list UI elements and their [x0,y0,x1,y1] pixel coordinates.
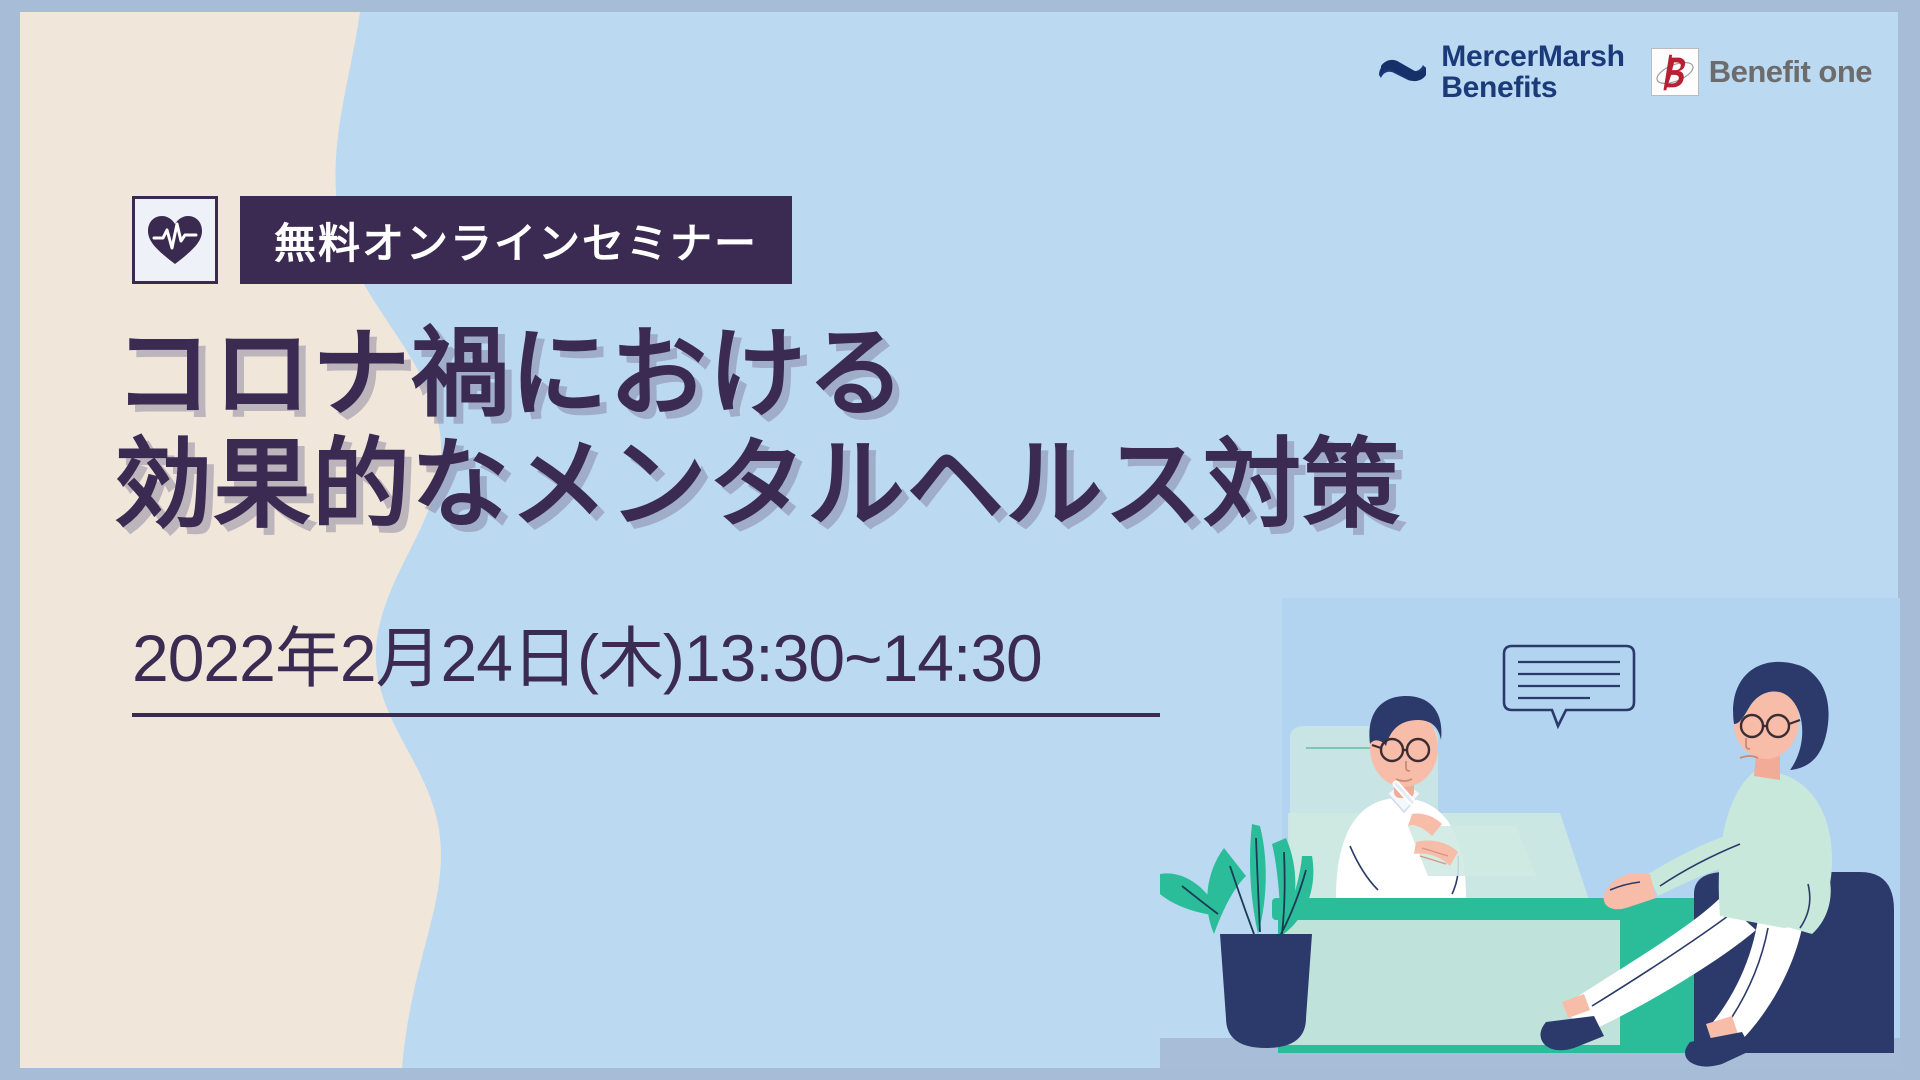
schedule-date-time: 2022年2月24日(木)13:30~14:30 [132,620,1242,697]
webinar-banner: MercerMarsh Benefits Benefit one 無料オンライン… [0,0,1920,1080]
heart-pulse-icon [132,196,218,284]
benefit-one-logo: Benefit one [1651,48,1872,96]
logo-row: MercerMarsh Benefits Benefit one [1376,36,1872,108]
mercermarsh-benefits-logo: MercerMarsh Benefits [1376,41,1624,103]
background-cream-wave [20,12,640,1068]
mercermarsh-line2: Benefits [1441,71,1557,104]
badge-label: 無料オンラインセミナー [240,196,792,284]
benefit-one-wordmark: Benefit one [1709,54,1872,90]
seminar-badge: 無料オンラインセミナー [132,196,792,284]
benefit-one-b-icon [1651,48,1699,96]
counseling-session-illustration [1160,598,1900,1068]
mercermarsh-line1: MercerMarsh [1441,40,1624,73]
headline-line-1: コロナ禍における [114,318,1401,429]
headline-line-2: 効果的なメンタルヘルス対策 [114,429,1401,540]
mercermarsh-wordmark: MercerMarsh Benefits [1441,41,1624,103]
schedule-block: 2022年2月24日(木)13:30~14:30 [132,620,1242,717]
mercer-interlock-icon [1376,57,1428,87]
page-title: コロナ禍における 効果的なメンタルヘルス対策 [114,318,1401,539]
schedule-underline [132,713,1240,717]
